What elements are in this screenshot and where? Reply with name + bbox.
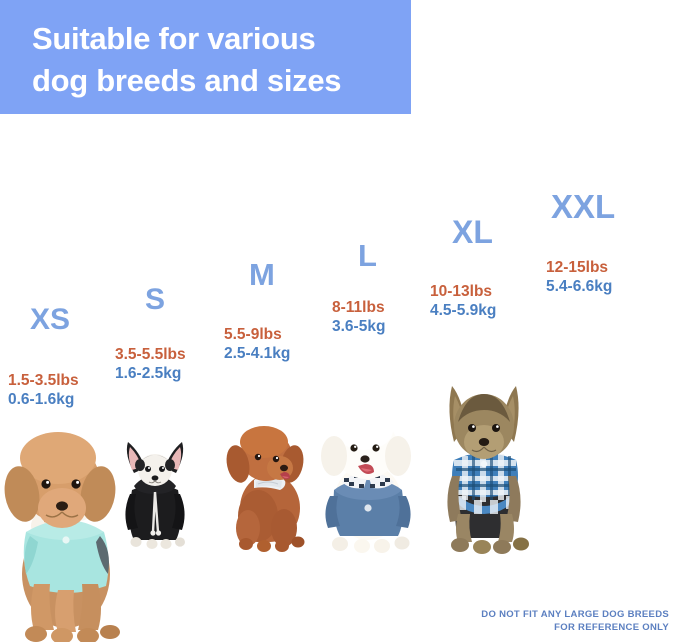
dog-image-l (312, 404, 422, 554)
weight-kilograms-xs: 0.6-1.6kg (8, 390, 79, 409)
toy-poodle-illustration (218, 420, 318, 552)
banner-title-line-1: Suitable for various (32, 17, 315, 60)
weight-pounds-m: 5.5-9lbs (224, 325, 290, 344)
size-label-xl: XL (452, 216, 493, 248)
size-label-xxl: XXL (551, 190, 615, 223)
footer-line-1: DO NOT FIT ANY LARGE DOG BREEDS (481, 608, 669, 621)
bichon-frise-illustration (312, 404, 422, 554)
weight-range-xxl: 12-15lbs 5.4-6.6kg (546, 258, 612, 296)
weight-pounds-l: 8-11lbs (332, 298, 385, 317)
weight-range-xs: 1.5-3.5lbs 0.6-1.6kg (8, 371, 79, 409)
banner-title-line-2: dog breeds and sizes (32, 59, 341, 102)
dog-image-m (218, 420, 318, 552)
weight-kilograms-m: 2.5-4.1kg (224, 344, 290, 363)
weight-pounds-s: 3.5-5.5lbs (115, 345, 186, 364)
size-label-m: M (249, 259, 275, 290)
weight-range-xl: 10-13lbs 4.5-5.9kg (430, 282, 496, 320)
weight-kilograms-xl: 4.5-5.9kg (430, 301, 496, 320)
weight-pounds-xs: 1.5-3.5lbs (8, 371, 79, 390)
weight-range-s: 3.5-5.5lbs 1.6-2.5kg (115, 345, 186, 383)
weight-range-m: 5.5-9lbs 2.5-4.1kg (224, 325, 290, 363)
weight-pounds-xxl: 12-15lbs (546, 258, 612, 277)
weight-kilograms-s: 1.6-2.5kg (115, 364, 186, 383)
footer-disclaimer: DO NOT FIT ANY LARGE DOG BREEDS FOR REFE… (481, 608, 669, 634)
header-banner: Suitable for various dog breeds and size… (0, 0, 411, 114)
weight-range-l: 8-11lbs 3.6-5kg (332, 298, 385, 336)
dog-image-xxl (0, 424, 130, 642)
weight-kilograms-xxl: 5.4-6.6kg (546, 277, 612, 296)
size-label-l: L (358, 240, 377, 271)
dog-image-xl (428, 364, 540, 556)
dog-size-chart: Suitable for various dog breeds and size… (0, 0, 679, 642)
yorkshire-terrier-illustration (428, 364, 540, 556)
size-label-xs: XS (30, 305, 70, 335)
weight-kilograms-l: 3.6-5kg (332, 317, 385, 336)
weight-pounds-xl: 10-13lbs (430, 282, 496, 301)
standard-poodle-illustration (0, 424, 130, 642)
footer-line-2: FOR REFERENCE ONLY (481, 621, 669, 634)
size-label-s: S (145, 285, 165, 315)
